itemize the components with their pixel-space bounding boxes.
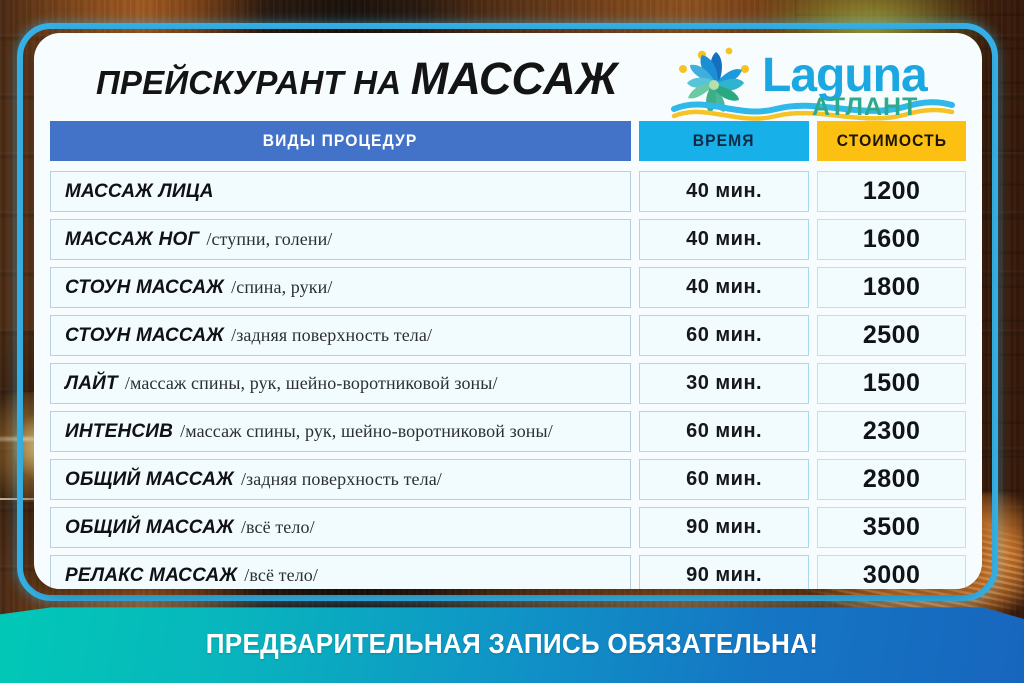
duration-value: 40 мин. (686, 180, 762, 203)
cell-procedure: ЛАЙТ/массаж спины, рук, шейно-воротников… (50, 363, 631, 404)
duration-value: 60 мин. (686, 324, 762, 347)
cell-duration: 60 мин. (639, 459, 809, 500)
table-row: РЕЛАКС МАССАЖ/всё тело/90 мин.3000 (50, 555, 966, 589)
procedure-description: /всё тело/ (241, 517, 315, 538)
card-header: ПРЕЙСКУРАНТ НА МАССАЖ (34, 33, 982, 121)
table-row: ОБЩИЙ МАССАЖ/всё тело/90 мин.3500 (50, 507, 966, 548)
cell-procedure: ИНТЕНСИВ/массаж спины, рук, шейно-воротн… (50, 411, 631, 452)
page-title: ПРЕЙСКУРАНТ НА МАССАЖ (96, 53, 618, 105)
duration-value: 60 мин. (686, 420, 762, 443)
duration-value: 40 мин. (686, 228, 762, 251)
procedure-name: ИНТЕНСИВ (65, 421, 173, 443)
table-row: ИНТЕНСИВ/массаж спины, рук, шейно-воротн… (50, 411, 966, 452)
table-header-row: ВИДЫ ПРОЦЕДУР ВРЕМЯ СТОИМОСТЬ (50, 121, 966, 161)
cell-price: 2300 (817, 411, 966, 452)
column-header-time: ВРЕМЯ (639, 121, 809, 161)
price-value: 3000 (863, 561, 921, 589)
cell-duration: 40 мин. (639, 171, 809, 212)
cell-duration: 90 мин. (639, 507, 809, 548)
cell-price: 2500 (817, 315, 966, 356)
duration-value: 60 мин. (686, 468, 762, 491)
svg-text:АТЛАНТ: АТЛАНТ (812, 93, 918, 121)
duration-value: 30 мин. (686, 372, 762, 395)
cell-procedure: СТОУН МАССАЖ/задняя поверхность тела/ (50, 315, 631, 356)
procedure-description: /всё тело/ (244, 565, 318, 586)
procedure-description: /задняя поверхность тела/ (241, 469, 442, 490)
price-value: 2800 (863, 465, 921, 494)
procedure-name: ОБЩИЙ МАССАЖ (65, 469, 234, 491)
price-list-poster: ПРЕЙСКУРАНТ НА МАССАЖ (0, 0, 1024, 683)
table-body: МАССАЖ ЛИЦА40 мин.1200МАССАЖ НОГ/ступни,… (50, 171, 966, 589)
cell-procedure: РЕЛАКС МАССАЖ/всё тело/ (50, 555, 631, 589)
procedure-description: /задняя поверхность тела/ (231, 325, 432, 346)
cell-procedure: ОБЩИЙ МАССАЖ/задняя поверхность тела/ (50, 459, 631, 500)
cell-price: 1800 (817, 267, 966, 308)
price-value: 1800 (863, 273, 921, 302)
cell-duration: 40 мин. (639, 267, 809, 308)
table-row: ЛАЙТ/массаж спины, рук, шейно-воротников… (50, 363, 966, 404)
procedure-name: РЕЛАКС МАССАЖ (65, 565, 237, 587)
cell-procedure: МАССАЖ НОГ/ступни, голени/ (50, 219, 631, 260)
cell-price: 3500 (817, 507, 966, 548)
price-value: 1600 (863, 225, 921, 254)
duration-value: 40 мин. (686, 276, 762, 299)
table-row: СТОУН МАССАЖ/спина, руки/40 мин.1800 (50, 267, 966, 308)
price-value: 2500 (863, 321, 921, 350)
logo-wordmark: Laguna АТЛАНТ (762, 49, 928, 121)
cell-duration: 60 мин. (639, 315, 809, 356)
procedure-name: МАССАЖ НОГ (65, 229, 199, 251)
price-table: ВИДЫ ПРОЦЕДУР ВРЕМЯ СТОИМОСТЬ МАССАЖ ЛИЦ… (50, 121, 966, 589)
cell-duration: 40 мин. (639, 219, 809, 260)
table-row: МАССАЖ ЛИЦА40 мин.1200 (50, 171, 966, 212)
procedure-name: СТОУН МАССАЖ (65, 325, 224, 347)
table-row: СТОУН МАССАЖ/задняя поверхность тела/60 … (50, 315, 966, 356)
procedure-description: /спина, руки/ (231, 277, 332, 298)
cell-price: 3000 (817, 555, 966, 589)
cell-duration: 30 мин. (639, 363, 809, 404)
procedure-description: /массаж спины, рук, шейно-воротниковой з… (180, 421, 553, 442)
laguna-atlant-logo: Laguna АТЛАНТ (666, 39, 956, 123)
procedure-name: ЛАЙТ (65, 373, 118, 395)
table-row: ОБЩИЙ МАССАЖ/задняя поверхность тела/60 … (50, 459, 966, 500)
bottom-banner-text: ПРЕДВАРИТЕЛЬНАЯ ЗАПИСЬ ОБЯЗАТЕЛЬНА! (36, 605, 988, 683)
page-title-big: МАССАЖ (411, 53, 618, 104)
procedure-name: ОБЩИЙ МАССАЖ (65, 517, 234, 539)
procedure-description: /ступни, голени/ (206, 229, 332, 250)
cell-price: 2800 (817, 459, 966, 500)
cell-duration: 90 мин. (639, 555, 809, 589)
duration-value: 90 мин. (686, 516, 762, 539)
price-value: 1500 (863, 369, 921, 398)
procedure-name: СТОУН МАССАЖ (65, 277, 224, 299)
cell-price: 1200 (817, 171, 966, 212)
cell-procedure: МАССАЖ ЛИЦА (50, 171, 631, 212)
procedure-name: МАССАЖ ЛИЦА (65, 181, 214, 203)
price-value: 3500 (863, 513, 921, 542)
page-title-small: ПРЕЙСКУРАНТ НА (96, 64, 411, 101)
cell-price: 1600 (817, 219, 966, 260)
price-value: 1200 (863, 177, 921, 206)
procedure-description: /массаж спины, рук, шейно-воротниковой з… (125, 373, 498, 394)
cell-procedure: ОБЩИЙ МАССАЖ/всё тело/ (50, 507, 631, 548)
cell-duration: 60 мин. (639, 411, 809, 452)
cell-price: 1500 (817, 363, 966, 404)
cell-procedure: СТОУН МАССАЖ/спина, руки/ (50, 267, 631, 308)
price-value: 2300 (863, 417, 921, 446)
table-row: МАССАЖ НОГ/ступни, голени/40 мин.1600 (50, 219, 966, 260)
duration-value: 90 мин. (686, 564, 762, 587)
column-header-procedures: ВИДЫ ПРОЦЕДУР (50, 121, 631, 161)
price-card: ПРЕЙСКУРАНТ НА МАССАЖ (34, 33, 982, 589)
column-header-price: СТОИМОСТЬ (817, 121, 966, 161)
